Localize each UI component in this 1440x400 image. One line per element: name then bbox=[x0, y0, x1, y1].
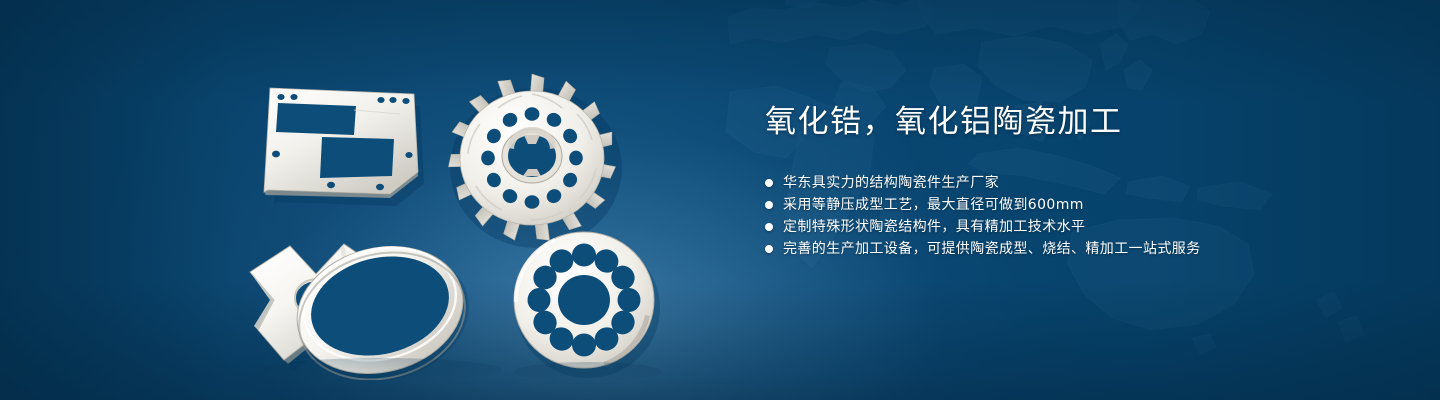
ceramic-vaned-impeller bbox=[447, 74, 622, 248]
ceramic-ring bbox=[283, 230, 482, 380]
list-item: 定制特殊形状陶瓷结构件，具有精加工技术水平 bbox=[765, 216, 1385, 238]
feature-text: 完善的生产加工设备，可提供陶瓷成型、烧结、精加工一站式服务 bbox=[783, 238, 1201, 260]
page-title: 氧化锆，氧化铝陶瓷加工 bbox=[765, 104, 1385, 142]
feature-text: 定制特殊形状陶瓷结构件，具有精加工技术水平 bbox=[783, 216, 1085, 238]
feature-text: 华东具实力的结构陶瓷件生产厂家 bbox=[783, 172, 999, 194]
hero-banner: 氧化锆，氧化铝陶瓷加工 华东具实力的结构陶瓷件生产厂家 采用等静压成型工艺，最大… bbox=[0, 0, 1440, 400]
ceramic-products-image bbox=[232, 38, 684, 380]
bullet-icon bbox=[765, 201, 773, 209]
banner-copy: 氧化锆，氧化铝陶瓷加工 华东具实力的结构陶瓷件生产厂家 采用等静压成型工艺，最大… bbox=[765, 104, 1385, 260]
bullet-icon bbox=[765, 179, 773, 187]
feature-text: 采用等静压成型工艺，最大直径可做到600mm bbox=[783, 194, 1084, 216]
ceramic-perforated-flange bbox=[514, 232, 660, 378]
list-item: 采用等静压成型工艺，最大直径可做到600mm bbox=[765, 194, 1385, 216]
bullet-icon bbox=[765, 223, 773, 231]
feature-list: 华东具实力的结构陶瓷件生产厂家 采用等静压成型工艺，最大直径可做到600mm 定… bbox=[765, 172, 1385, 260]
list-item: 华东具实力的结构陶瓷件生产厂家 bbox=[765, 172, 1385, 194]
bullet-icon bbox=[765, 245, 773, 253]
list-item: 完善的生产加工设备，可提供陶瓷成型、烧结、精加工一站式服务 bbox=[765, 238, 1385, 260]
ceramic-mounting-plate bbox=[264, 88, 424, 206]
